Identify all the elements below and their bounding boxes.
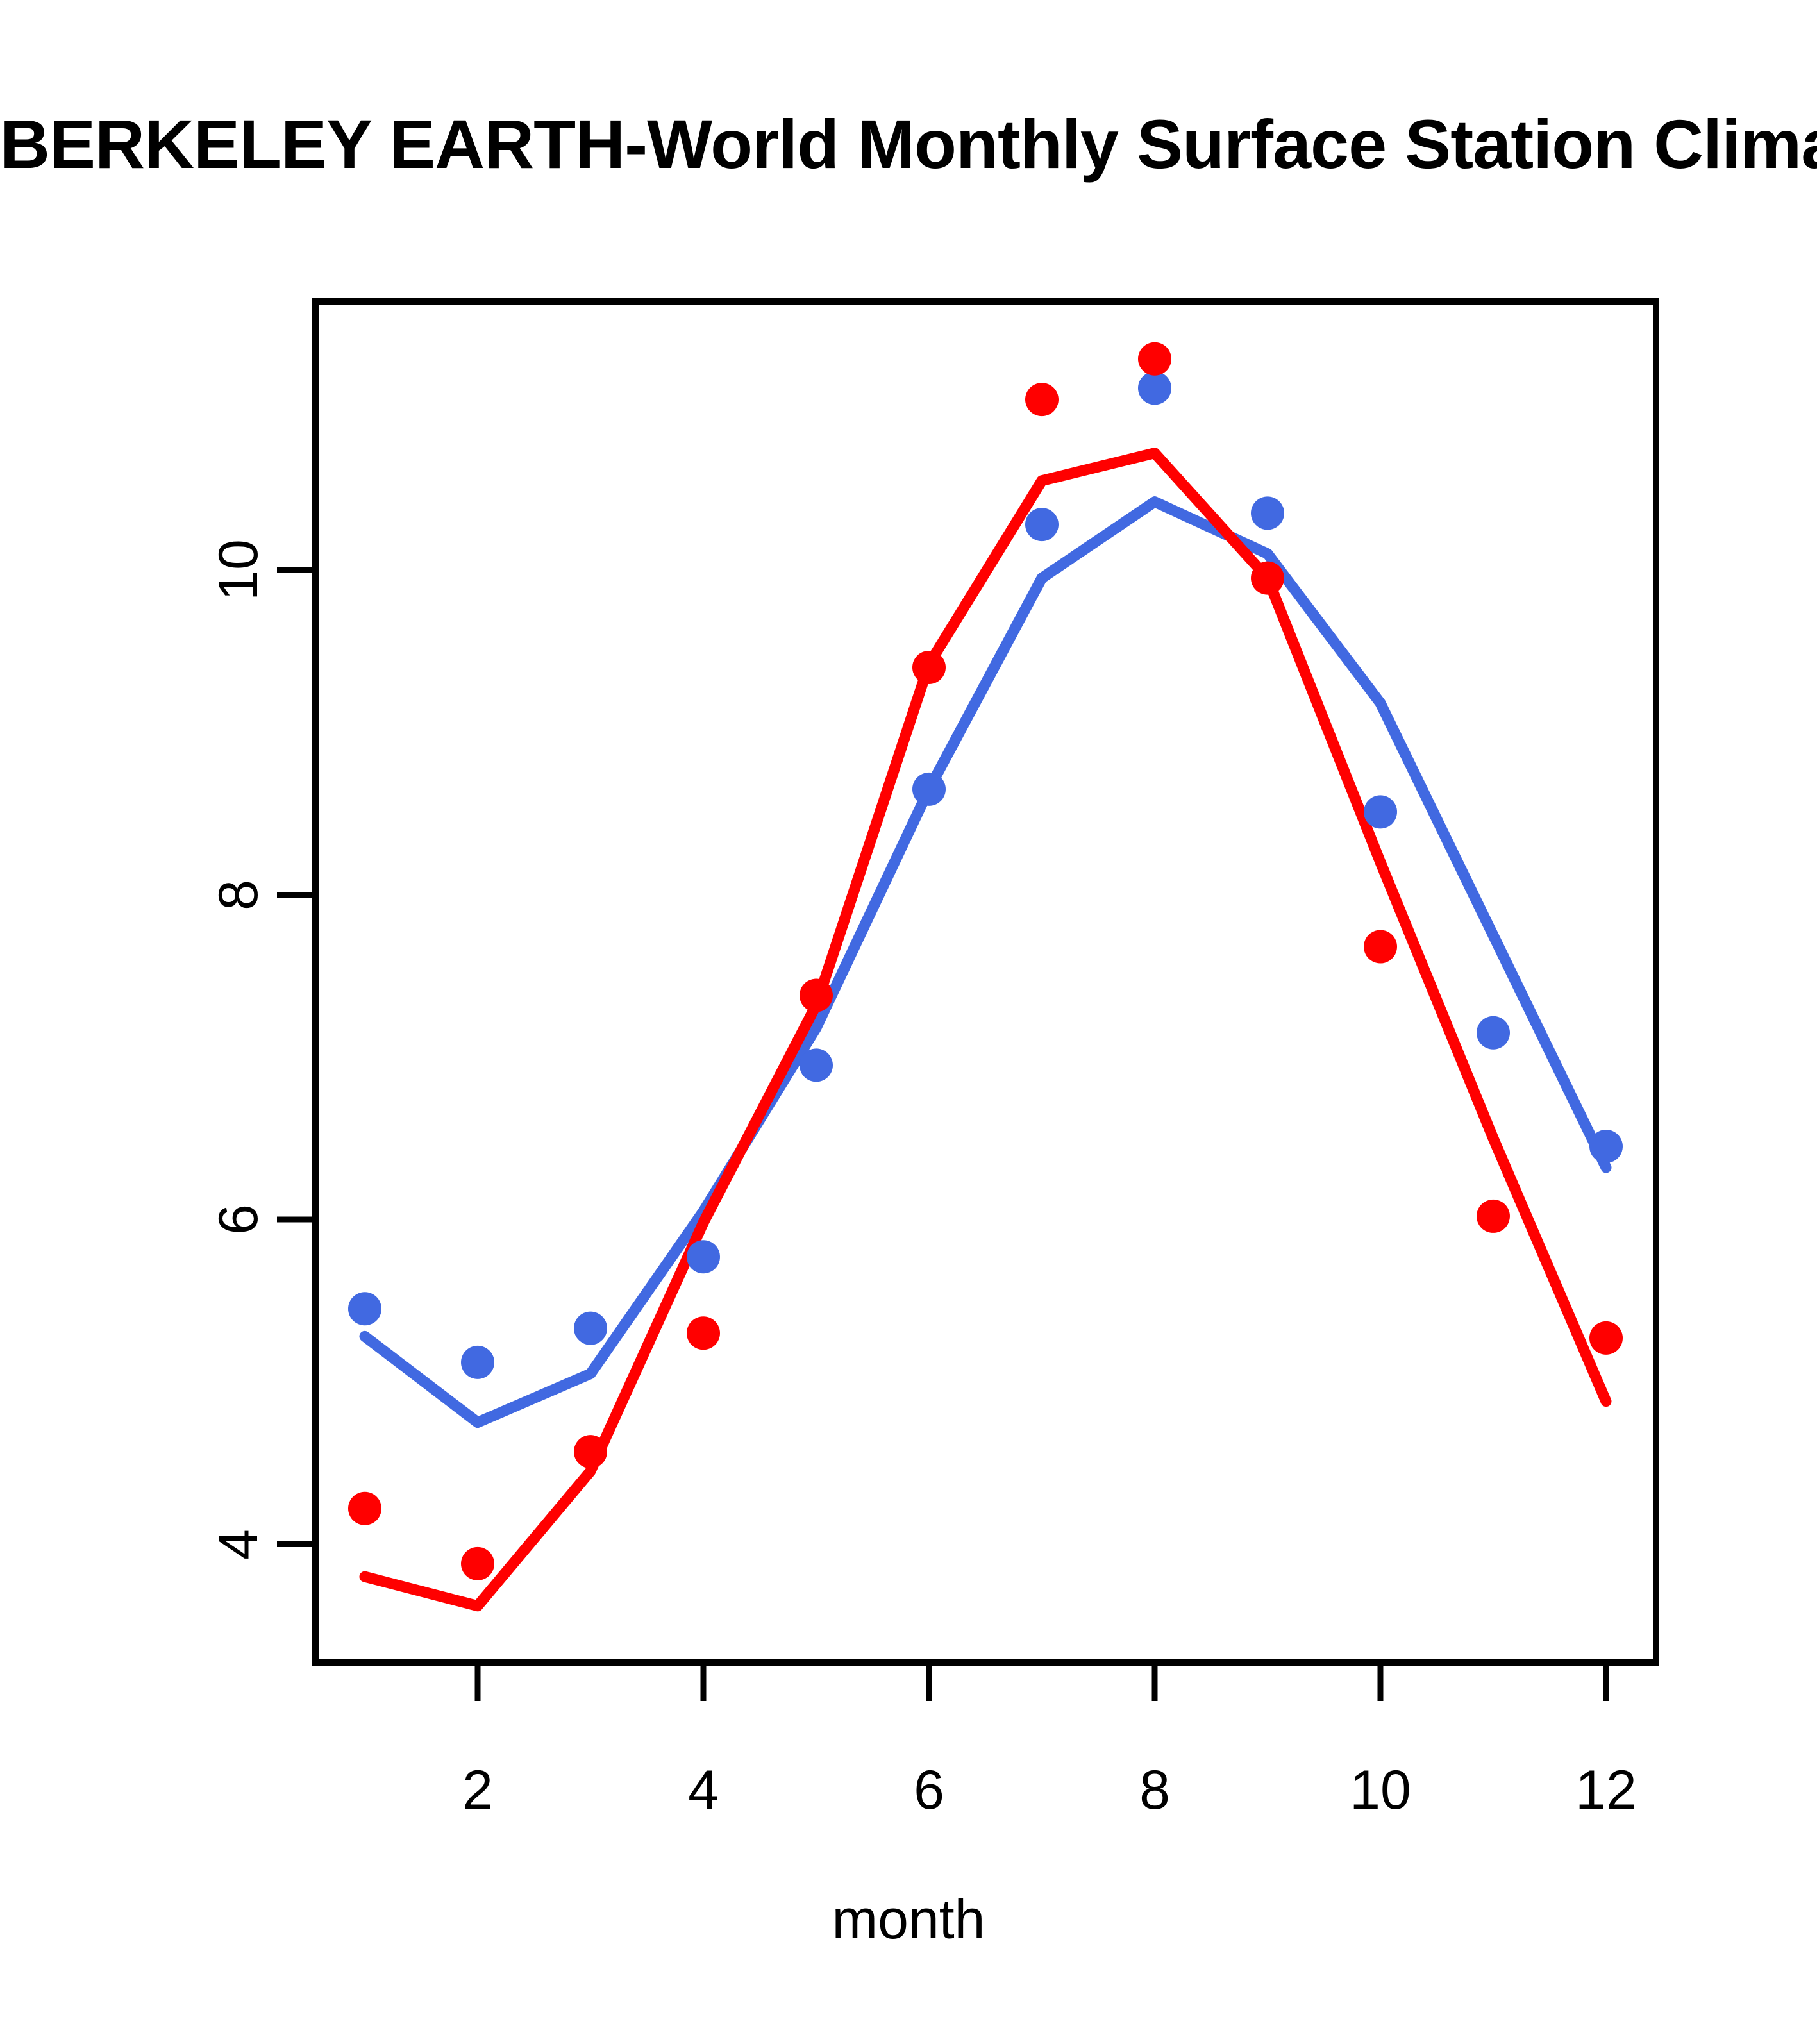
x-tick-label: 6 (833, 1759, 1025, 1822)
data-point (687, 1316, 720, 1350)
x-tick-label: 4 (607, 1759, 800, 1822)
data-point (1025, 508, 1059, 541)
data-point (687, 1240, 720, 1273)
data-point (1589, 1130, 1623, 1163)
x-tick-label: 2 (381, 1759, 574, 1822)
data-point (1477, 1016, 1510, 1050)
plot-frame (315, 301, 1656, 1663)
data-point (461, 1346, 494, 1379)
data-point (1364, 930, 1397, 964)
data-point (912, 651, 946, 684)
y-tick-label: 4 (206, 1480, 271, 1609)
x-axis-label: month (0, 1888, 1817, 1952)
data-point (800, 1048, 833, 1082)
x-tick-label: 8 (1059, 1759, 1251, 1822)
x-tick-label: 10 (1284, 1759, 1477, 1822)
x-tick-label: 12 (1510, 1759, 1702, 1822)
data-point (461, 1547, 494, 1580)
data-point (1251, 562, 1284, 595)
series-line-red-line (365, 453, 1606, 1606)
y-tick-label: 6 (206, 1155, 271, 1284)
y-axis-ticks (277, 570, 315, 1545)
data-point (348, 1292, 381, 1325)
data-point (1477, 1200, 1510, 1233)
data-point (1251, 496, 1284, 530)
data-point (912, 773, 946, 806)
data-point (574, 1312, 607, 1345)
plot-area: 46810 24681012 (0, 0, 1817, 2044)
data-point (574, 1435, 607, 1468)
data-point (1138, 371, 1171, 405)
chart-page: BERKELEY EARTH-World Monthly Surface Sta… (0, 0, 1817, 2044)
y-tick-label: 8 (206, 831, 271, 959)
data-point (1025, 383, 1059, 416)
series-lines (365, 453, 1606, 1606)
plot-canvas (0, 0, 1817, 2044)
data-point (348, 1492, 381, 1525)
x-axis-ticks (478, 1663, 1606, 1701)
data-point (800, 979, 833, 1012)
data-point (1138, 342, 1171, 376)
data-point (1589, 1321, 1623, 1355)
y-tick-label: 10 (206, 506, 271, 634)
data-point (1364, 795, 1397, 828)
